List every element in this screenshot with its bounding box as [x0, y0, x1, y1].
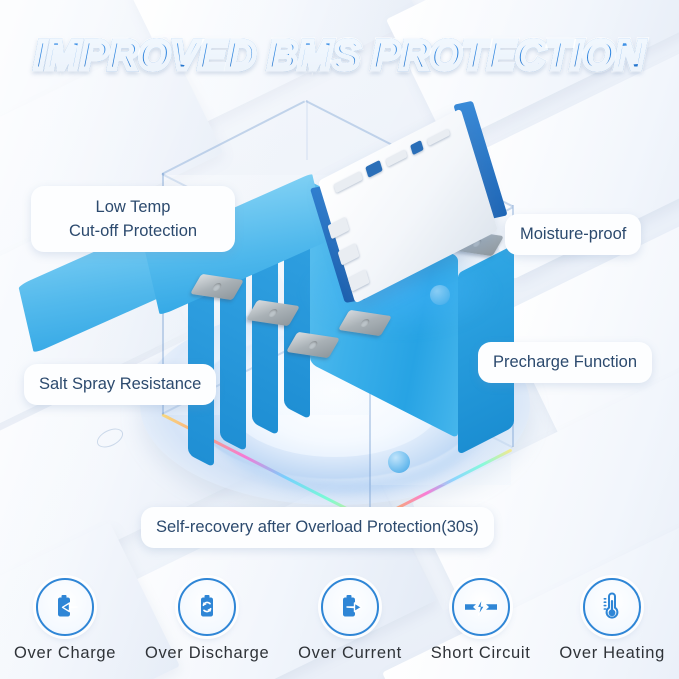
- feature-over-discharge[interactable]: Over Discharge: [145, 578, 269, 663]
- protection-feature-row: Over Charge Over Discharge: [0, 565, 679, 663]
- callout-line-1: Low Temp: [46, 195, 220, 219]
- decor-sphere: [430, 285, 450, 305]
- callout-low-temp[interactable]: Low Temp Cut-off Protection: [31, 186, 235, 252]
- thermometer-icon: [583, 578, 641, 636]
- page-title: IMPROVED BMS PROTECTION: [0, 32, 679, 79]
- feature-label: Short Circuit: [431, 644, 531, 663]
- battery-right-arrow-icon: [321, 578, 379, 636]
- feature-over-heating[interactable]: Over Heating: [559, 578, 665, 663]
- bms-chip: [410, 140, 424, 155]
- decor-sphere: [388, 451, 410, 473]
- bms-chip: [365, 160, 383, 178]
- feature-label: Over Current: [298, 644, 402, 663]
- callout-line-1: Moisture-proof: [520, 223, 626, 246]
- callout-salt-spray[interactable]: Salt Spray Resistance: [24, 364, 216, 405]
- callout-line-2: Cut-off Protection: [46, 219, 220, 243]
- callout-self-recovery[interactable]: Self-recovery after Overload Protection(…: [141, 507, 494, 548]
- feature-over-current[interactable]: Over Current: [298, 578, 402, 663]
- bms-chip: [385, 149, 407, 167]
- feature-label: Over Heating: [559, 644, 665, 663]
- feature-label: Over Charge: [14, 644, 116, 663]
- battery-recycle-icon: [178, 578, 236, 636]
- feature-over-charge[interactable]: Over Charge: [14, 578, 116, 663]
- callout-moisture-proof[interactable]: Moisture-proof: [505, 214, 641, 255]
- product-illustration: [120, 95, 550, 515]
- callout-precharge[interactable]: Precharge Function: [478, 342, 652, 383]
- bms-chip: [427, 128, 450, 146]
- callout-line-1: Salt Spray Resistance: [39, 373, 201, 396]
- battery-left-arrow-icon: [36, 578, 94, 636]
- feature-label: Over Discharge: [145, 644, 269, 663]
- callout-line-1: Self-recovery after Overload Protection(…: [156, 516, 479, 539]
- feature-short-circuit[interactable]: Short Circuit: [431, 578, 531, 663]
- callout-line-1: Precharge Function: [493, 351, 637, 374]
- infographic-canvas: IMPROVED BMS PROTECTION IMPROVED BMS PRO…: [0, 0, 679, 679]
- lightning-break-icon: [452, 578, 510, 636]
- bms-chip: [333, 171, 362, 193]
